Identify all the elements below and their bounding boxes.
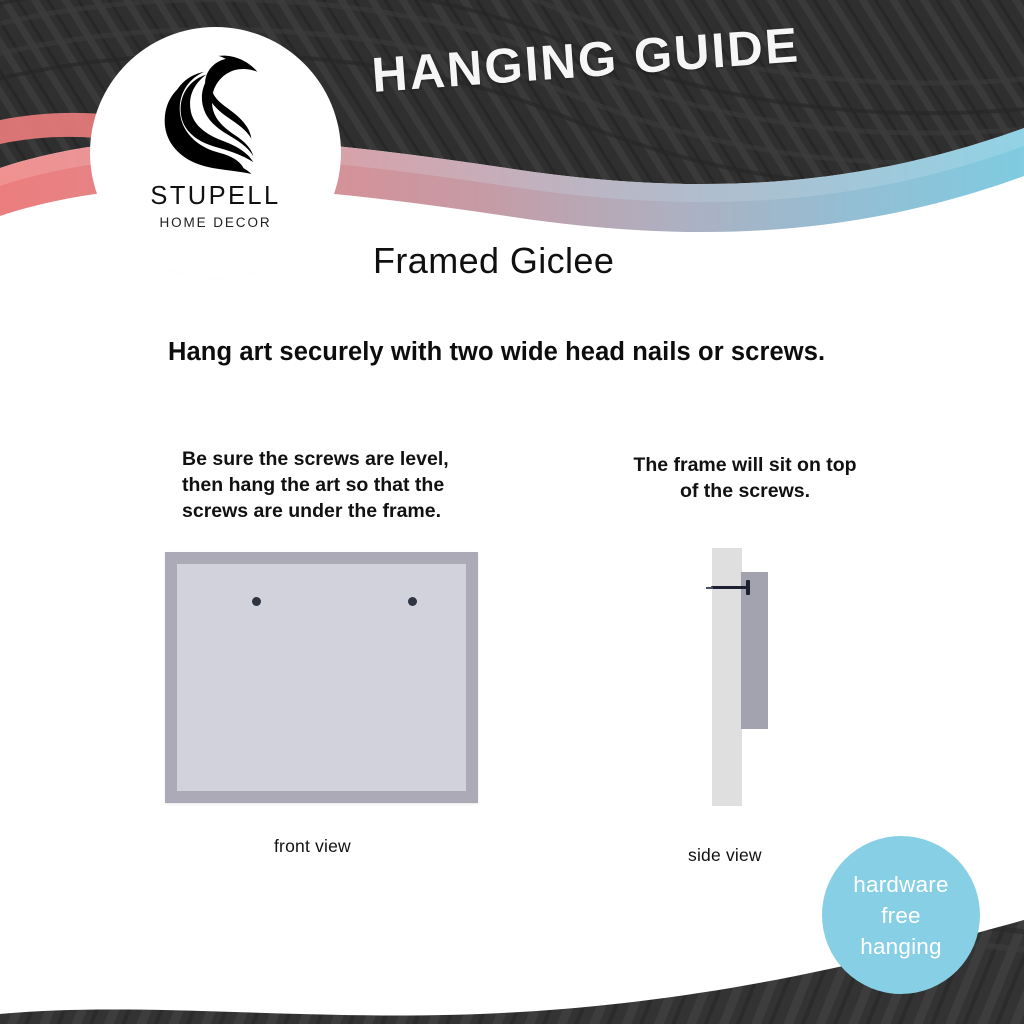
front-view-caption-line-3: screws are under the frame. <box>182 498 482 524</box>
front-view-caption-line-1: Be sure the screws are level, <box>182 446 482 472</box>
page-title: HANGING GUIDE <box>370 17 802 104</box>
side-view-caption: The frame will sit on top of the screws. <box>600 452 890 504</box>
frame-side-bar <box>741 572 768 729</box>
brand-name: STUPELL <box>150 184 280 210</box>
badge-line-1: hardware <box>853 869 948 900</box>
brand-logo-badge: STUPELL HOME DECOR <box>95 32 336 273</box>
front-view-frame-diagram <box>165 552 478 803</box>
badge-line-2: free <box>881 900 921 931</box>
frame-mat-area <box>177 564 466 791</box>
front-view-caption: Be sure the screws are level, then hang … <box>182 446 482 524</box>
brand-tagline: HOME DECOR <box>159 216 271 230</box>
front-view-label: front view <box>274 836 351 857</box>
side-view-label: side view <box>688 845 762 866</box>
stupell-s-swoosh-logo-icon <box>157 50 275 178</box>
side-view-caption-line-2: of the screws. <box>600 478 890 504</box>
side-view-caption-line-1: The frame will sit on top <box>600 452 890 478</box>
product-subtitle: Framed Giclee <box>373 240 614 282</box>
hanging-guide-page: STUPELL HOME DECOR HANGING GUIDE Framed … <box>0 0 1024 1024</box>
nail-head-icon <box>746 580 750 595</box>
nail-shaft-icon <box>711 586 749 589</box>
lead-instruction: Hang art securely with two wide head nai… <box>168 338 868 367</box>
screw-dot-right <box>408 597 417 606</box>
screw-dot-left <box>252 597 261 606</box>
side-view-frame-diagram <box>700 540 810 815</box>
badge-line-3: hanging <box>860 931 941 962</box>
nail-tip-icon <box>706 587 713 589</box>
front-view-caption-line-2: then hang the art so that the <box>182 472 482 498</box>
hardware-free-hanging-badge: hardware free hanging <box>822 836 980 994</box>
